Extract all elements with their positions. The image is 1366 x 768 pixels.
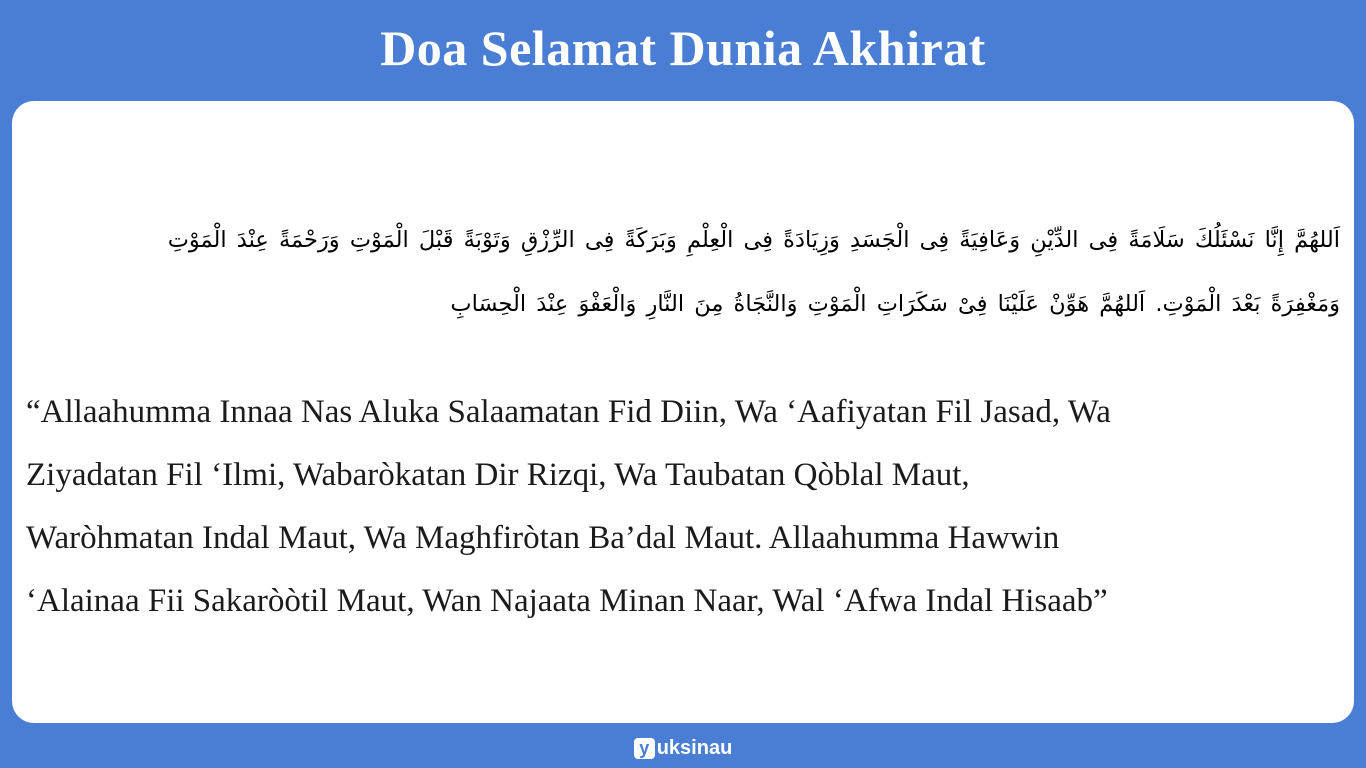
transliteration-text: “Allaahumma Innaa Nas Aluka Salaamatan F… [26,381,1342,633]
yuksinau-logo[interactable]: y uksinau [634,735,733,761]
card-inner: اَللهُمَّ إِنَّا نَسْئَلُكَ سَلَامَةً فِ… [12,101,1354,723]
transliteration-line-3: Waròhmatan Indal Maut, Wa Maghfiròtan Ba… [26,507,1342,570]
page-root: Doa Selamat Dunia Akhirat اَللهُمَّ إِنَ… [0,0,1366,768]
transliteration-line-2: Ziyadatan Fil ‘Ilmi, Wabaròkatan Dir Riz… [26,444,1342,507]
page-title: Doa Selamat Dunia Akhirat [0,18,1366,78]
transliteration-line-4: ‘Alainaa Fii Sakaròòtil Maut, Wan Najaat… [26,570,1342,633]
yuksinau-logo-icon: y [634,738,655,759]
arabic-line-2: وَمَغْفِرَةً بَعْدَ الْمَوْتِ. اَللهُمَّ… [26,273,1340,335]
transliteration-line-1: “Allaahumma Innaa Nas Aluka Salaamatan F… [26,381,1342,444]
content-card: اَللهُمَّ إِنَّا نَسْئَلُكَ سَلَامَةً فِ… [12,101,1354,723]
arabic-prayer-text: اَللهُمَّ إِنَّا نَسْئَلُكَ سَلَامَةً فِ… [26,209,1340,335]
yuksinau-logo-word: uksinau [657,738,733,759]
arabic-line-1: اَللهُمَّ إِنَّا نَسْئَلُكَ سَلَامَةً فِ… [26,209,1340,271]
footer: y uksinau [0,735,1366,761]
